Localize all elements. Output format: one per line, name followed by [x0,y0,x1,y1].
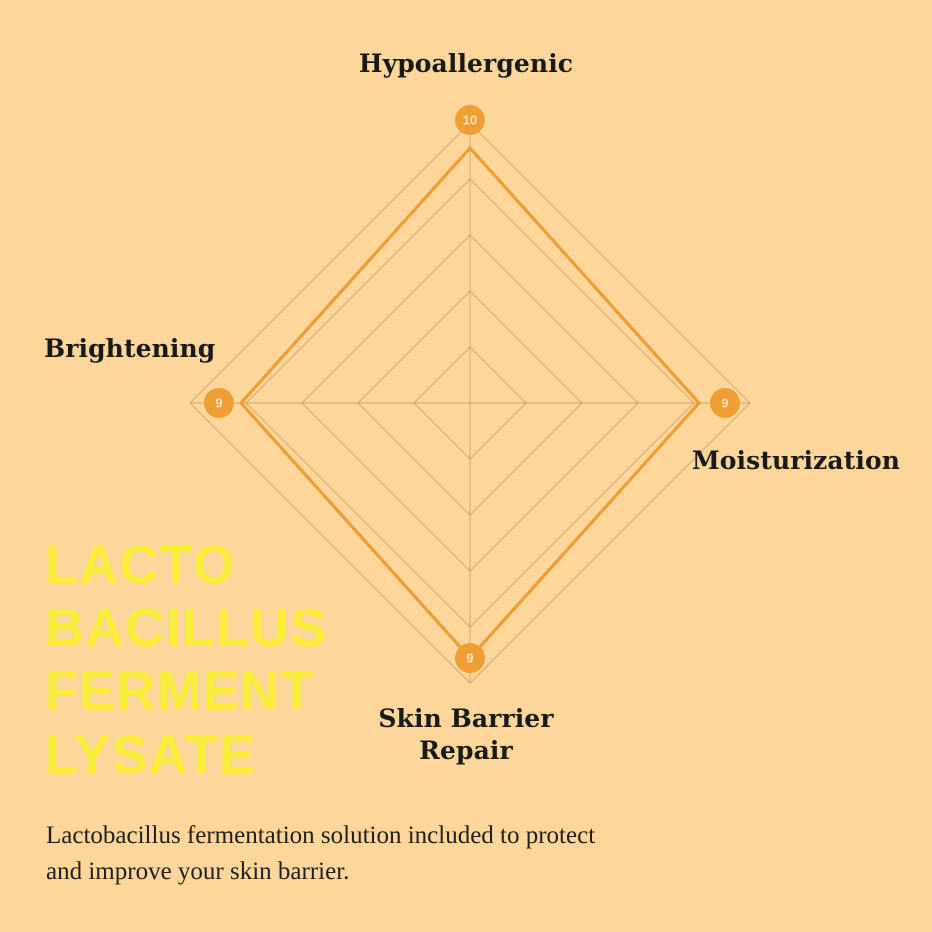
headline-line-4: LYSATE [45,724,328,787]
headline-line-2: BACILLUS [45,597,328,660]
ingredient-description: Lactobacillus fermentation solution incl… [46,818,746,891]
point-value-brightening: 9 [215,396,222,411]
axis-label-skin-barrier-repair-line1: Skin Barrier [378,704,553,733]
ingredient-headline: LACTO BACILLUS FERMENT LYSATE [45,534,328,787]
axis-label-brightening: Brightening [44,333,215,365]
axis-label-hypoallergenic: Hypoallergenic [0,48,932,80]
radar-point-skin-barrier-repair[interactable]: 9 [455,643,485,673]
point-value-moisturization: 9 [721,396,728,411]
axis-label-moisturization: Moisturization [692,445,900,477]
radar-point-brightening[interactable]: 9 [204,388,234,418]
description-line-2: and improve your skin barrier. [46,854,746,890]
radar-point-moisturization[interactable]: 9 [710,388,740,418]
point-value-hypoallergenic: 10 [463,113,477,128]
radar-point-hypoallergenic[interactable]: 10 [455,105,485,135]
headline-line-3: FERMENT [45,660,328,723]
radar-chart-infographic: 10 9 9 9 Hypoallergenic Moisturization B… [0,0,932,932]
point-value-skin-barrier-repair: 9 [466,651,473,666]
description-line-1: Lactobacillus fermentation solution incl… [46,818,746,854]
headline-line-1: LACTO [45,534,328,597]
